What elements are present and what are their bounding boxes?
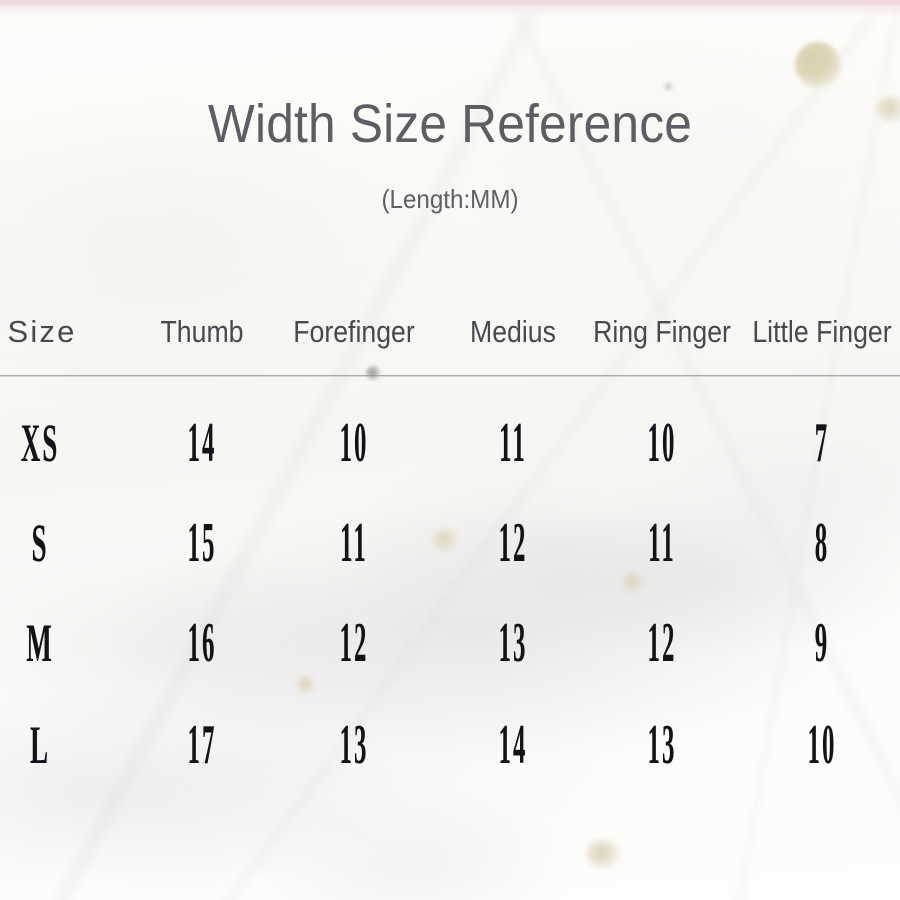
cell-s-forefinger: 11 bbox=[312, 512, 396, 574]
page-title: Width Size Reference bbox=[36, 96, 864, 153]
table-row: XS141011107 bbox=[0, 412, 900, 474]
cell-xs-little_finger: 7 bbox=[778, 412, 866, 474]
column-header-thumb: Thumb bbox=[138, 306, 267, 358]
page-subtitle-unit: (Length:MM) bbox=[32, 184, 869, 215]
column-header-forefinger: Forefinger bbox=[272, 306, 435, 358]
cell-s-thumb: 15 bbox=[169, 512, 235, 574]
chart-content: Width Size Reference (Length:MM) SizeThu… bbox=[0, 0, 900, 900]
cell-l-thumb: 17 bbox=[169, 714, 235, 776]
table-header-row: SizeThumbForefingerMediusRing FingerLitt… bbox=[0, 306, 900, 358]
cell-m-thumb: 16 bbox=[169, 612, 235, 674]
column-header-medius: Medius bbox=[449, 306, 578, 358]
cell-m-forefinger: 12 bbox=[312, 612, 396, 674]
header-divider-rule bbox=[0, 375, 900, 377]
cell-xs-forefinger: 10 bbox=[312, 412, 396, 474]
size-reference-chart: Width Size Reference (Length:MM) SizeThu… bbox=[0, 0, 900, 900]
table-row: L1713141310 bbox=[0, 714, 900, 776]
cell-l-size: L bbox=[10, 714, 70, 776]
cell-l-forefinger: 13 bbox=[312, 714, 396, 776]
column-header-size: Size bbox=[0, 306, 90, 358]
cell-l-medius: 14 bbox=[480, 714, 546, 776]
cell-s-little_finger: 8 bbox=[778, 512, 866, 574]
cell-xs-medius: 11 bbox=[480, 412, 546, 474]
table-row: M161213129 bbox=[0, 612, 900, 674]
cell-l-little_finger: 10 bbox=[778, 714, 866, 776]
cell-xs-size: XS bbox=[10, 412, 70, 474]
cell-m-medius: 13 bbox=[480, 612, 546, 674]
cell-s-size: S bbox=[10, 512, 70, 574]
cell-xs-thumb: 14 bbox=[169, 412, 235, 474]
cell-s-medius: 12 bbox=[480, 512, 546, 574]
column-header-little_finger: Little Finger bbox=[736, 306, 900, 358]
cell-s-ring_finger: 11 bbox=[620, 512, 704, 574]
column-header-ring_finger: Ring Finger bbox=[580, 306, 743, 358]
cell-l-ring_finger: 13 bbox=[620, 714, 704, 776]
cell-m-size: M bbox=[10, 612, 70, 674]
table-row: S151112118 bbox=[0, 512, 900, 574]
cell-xs-ring_finger: 10 bbox=[620, 412, 704, 474]
cell-m-little_finger: 9 bbox=[778, 612, 866, 674]
cell-m-ring_finger: 12 bbox=[620, 612, 704, 674]
